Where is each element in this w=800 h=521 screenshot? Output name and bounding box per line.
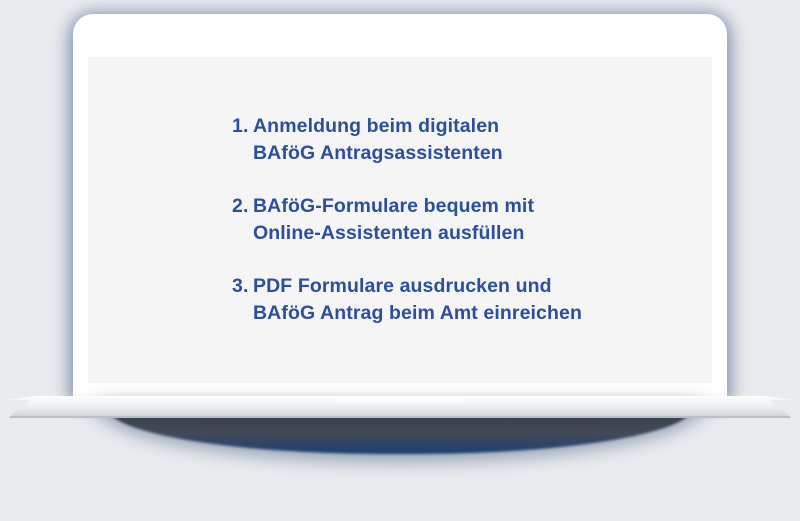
laptop-base-front-edge (10, 416, 790, 418)
step-text: PDF Formulare ausdrucken und BAföG Antra… (253, 273, 712, 327)
list-item: 2. BAföG-Formulare bequem mit Online-Ass… (232, 193, 712, 247)
laptop-screen: 1. Anmeldung beim digitalen BAföG Antrag… (88, 57, 712, 383)
step-text: Anmeldung beim digitalen BAföG Antragsas… (253, 113, 712, 167)
slide-content: 1. Anmeldung beim digitalen BAföG Antrag… (88, 57, 712, 383)
step-text: BAföG-Formulare bequem mit Online-Assist… (253, 193, 712, 247)
list-item: 3. PDF Formulare ausdrucken und BAföG An… (232, 273, 712, 327)
step-number: 2. (232, 193, 253, 220)
laptop-base-notch (336, 396, 464, 404)
laptop-mockup: 1. Anmeldung beim digitalen BAföG Antrag… (0, 0, 800, 521)
step-number: 3. (232, 273, 253, 300)
list-item: 1. Anmeldung beim digitalen BAföG Antrag… (232, 113, 712, 167)
mockup-stage: 1. Anmeldung beim digitalen BAföG Antrag… (0, 0, 800, 521)
step-list: 1. Anmeldung beim digitalen BAföG Antrag… (88, 113, 712, 326)
step-number: 1. (232, 113, 253, 140)
